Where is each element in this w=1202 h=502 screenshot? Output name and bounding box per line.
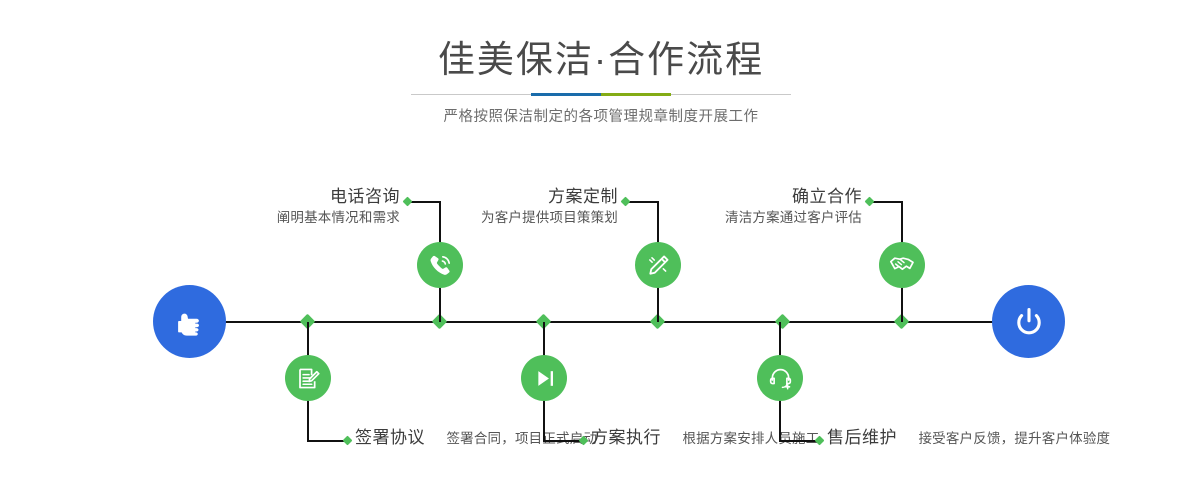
sign-document-icon [295,365,322,392]
step-desc: 阐明基本情况和需求 [188,208,400,228]
headset-support-icon [767,365,794,392]
step-icon-headset-support[interactable] [757,355,803,401]
step-desc: 为客户提供项目策策划 [406,208,618,228]
step-title: 方案定制 [406,186,618,208]
title-divider [411,93,791,97]
step-icon-pencil-edit[interactable] [635,242,681,288]
step-icon-phone-call[interactable] [417,242,463,288]
step-label-bottom-2: 方案执行 根据方案安排人员施工 [591,427,851,449]
phone-call-icon [427,252,454,279]
flow-diagram-canvas: 佳美保洁·合作流程 严格按照保洁制定的各项管理规章制度开展工作 [0,0,1202,502]
step-icon-sign-document[interactable] [285,355,331,401]
handshake-icon [888,251,916,279]
step-title: 签署协议 [355,428,425,447]
step-desc: 清洁方案通过客户评估 [650,208,862,228]
divider-gray-right [671,94,791,95]
pencil-edit-icon [645,252,672,279]
step-title: 电话咨询 [188,186,400,208]
divider-green-bar [601,93,671,96]
start-node-pointing-hand[interactable] [153,285,226,358]
branch-marker [621,197,631,207]
step-title: 确立合作 [650,186,862,208]
page-title: 佳美保洁·合作流程 [0,38,1202,82]
pointing-hand-icon [170,302,210,342]
play-execute-icon [531,365,558,392]
step-icon-play-execute[interactable] [521,355,567,401]
divider-blue-bar [531,93,601,96]
branch-marker [865,197,875,207]
branch-connector-horizontal [543,440,583,442]
step-label-bottom-1: 签署协议 签署合同，项目正式启动 [355,427,615,449]
step-title: 方案执行 [591,428,661,447]
step-label-top-1: 电话咨询 阐明基本情况和需求 [188,186,400,228]
power-icon [1009,302,1049,342]
page-subtitle: 严格按照保洁制定的各项管理规章制度开展工作 [0,106,1202,128]
step-title: 售后维护 [827,428,897,447]
step-label-top-2: 方案定制 为客户提供项目策策划 [406,186,618,228]
branch-connector-horizontal [779,440,819,442]
branch-connector-horizontal [307,440,347,442]
branch-marker [343,436,353,446]
step-desc: 签署合同，项目正式启动 [446,431,597,446]
step-icon-handshake[interactable] [879,242,925,288]
step-desc: 接受客户反馈，提升客户体验度 [918,431,1110,446]
step-desc: 根据方案安排人员施工 [682,431,819,446]
step-label-bottom-3: 售后维护 接受客户反馈，提升客户体验度 [827,427,1127,449]
step-label-top-3: 确立合作 清洁方案通过客户评估 [650,186,862,228]
axis-marker [775,314,791,330]
divider-gray-left [411,94,531,95]
end-node-power[interactable] [992,285,1065,358]
